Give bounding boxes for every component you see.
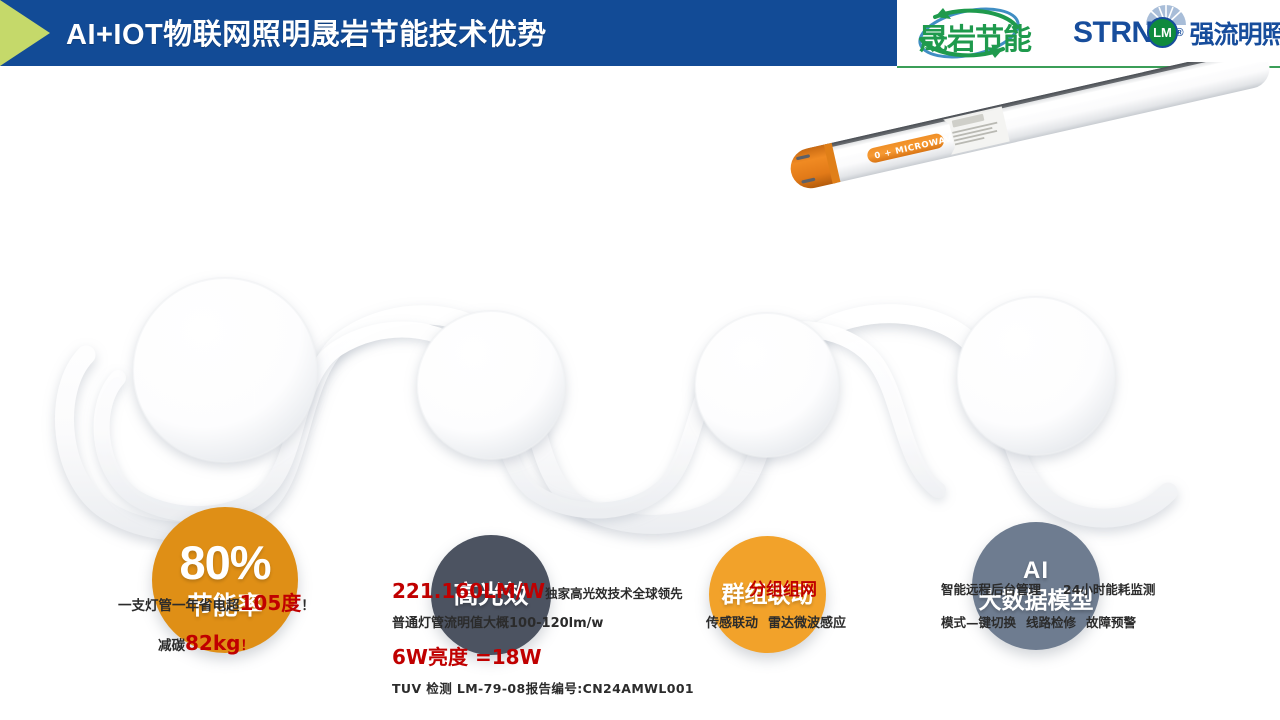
caption-ai-bigdata: 智能远程后台管理24小时能耗监测 模式—键切换线路检修故障预警	[941, 583, 1155, 630]
lm-badge: LM	[1147, 17, 1178, 48]
cap1-line1-number: 105度	[240, 591, 302, 615]
slide-canvas: AI+IOT物联网照明晟岩节能技术优势 晟岩节能	[0, 0, 1280, 720]
cap2-report: TUV 检测 LM-79-08报告编号:CN24AMWL001	[392, 682, 694, 696]
cap4-item-2: 24小时能耗监测	[1063, 582, 1155, 597]
caption-group-linkage: 分组组网 传感联动雷达微波感应	[749, 581, 846, 631]
cap2-lumen-note: 独家高光效技术全球领先	[545, 586, 683, 601]
shengyan-logo-mark: 晟岩节能	[907, 5, 1067, 61]
cap1-line1-post: ！	[301, 598, 315, 614]
cap2-lumen-value: 221.160LM/W	[392, 579, 545, 603]
strong-wordmark: STRNG LM ®	[1073, 5, 1184, 61]
led-tube-product-image: 0 + MICROWAVE	[760, 62, 1280, 212]
slide-header-bar: AI+IOT物联网照明晟岩节能技术优势 晟岩节能	[0, 0, 1280, 66]
cap2-brightness: 6W亮度 =18W	[392, 646, 694, 668]
chevron-accent-icon	[0, 0, 64, 66]
logo-chinese-brand: 晟岩节能	[919, 16, 1031, 58]
logo-chinese-tail: 强流明照明	[1190, 15, 1280, 51]
cap2-compare: 普通灯管流明值大概100-120lm/w	[392, 617, 694, 631]
cap4-item-3: 模式—键切换	[941, 615, 1016, 630]
node1-value: 80%	[179, 539, 270, 586]
caption-energy-saving: 一支灯管一年省电超105度！ 减碳82kg！	[118, 592, 315, 654]
cap3-title: 分组组网	[749, 581, 846, 600]
cap1-line2-post: ！	[240, 638, 254, 654]
cap4-item-5: 故障预警	[1086, 615, 1136, 630]
cap1-line2-number: 82kg	[185, 631, 240, 655]
cap1-line1-pre: 一支灯管一年省电超	[118, 598, 240, 614]
node4-value: AI	[1023, 559, 1049, 583]
cap4-item-1: 智能远程后台管理	[941, 582, 1041, 597]
cap4-item-4: 线路检修	[1026, 615, 1076, 630]
company-logo: 晟岩节能 STRNG LM ® 强流明照明	[897, 0, 1280, 68]
wave-ribbon-graphic	[0, 210, 1280, 550]
cap1-line2-pre: 减碳	[158, 638, 185, 654]
cap3-item-2: 雷达微波感应	[768, 616, 846, 631]
page-title: AI+IOT物联网照明晟岩节能技术优势	[66, 11, 547, 53]
process-diagram: 80% 节能率 高光效 群组联动 AI 大数据模型	[0, 210, 1280, 550]
caption-high-efficacy: 221.160LM/W独家高光效技术全球领先 普通灯管流明值大概100-120l…	[392, 580, 694, 696]
cap3-item-1: 传感联动	[706, 616, 758, 631]
